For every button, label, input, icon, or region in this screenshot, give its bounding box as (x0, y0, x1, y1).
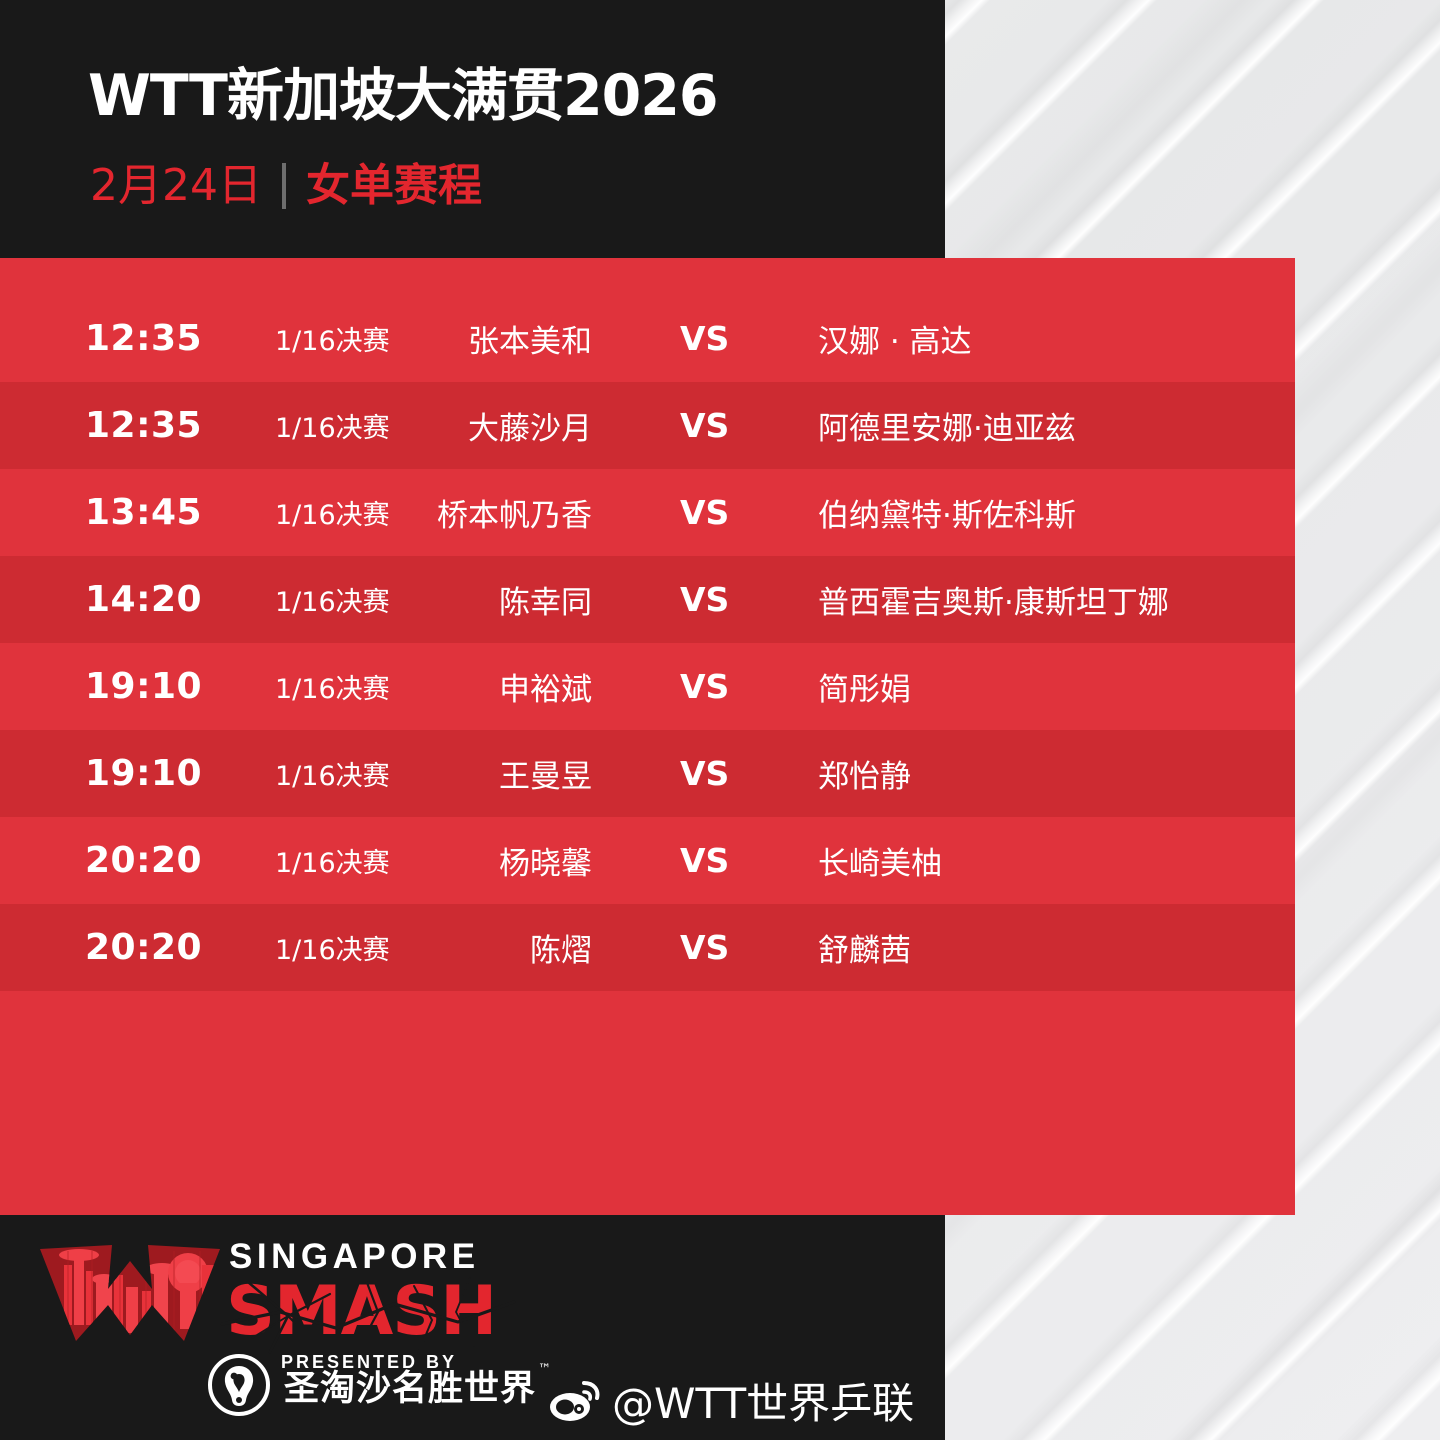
match-time: 19:10 (85, 753, 235, 794)
match-player2: 郑怡静 (818, 751, 911, 796)
match-time: 12:35 (85, 318, 235, 359)
subtitle-row: 2月24日 女单赛程 (90, 163, 482, 209)
match-player2: 阿德里安娜·迪亚兹 (818, 403, 1076, 448)
match-time: 13:45 (85, 492, 235, 533)
match-player2: 伯纳黛特·斯佐科斯 (818, 490, 1076, 535)
match-player1: 大藤沙月 (400, 403, 592, 448)
match-player2: 长崎美柚 (818, 838, 942, 883)
rws-lion-icon (208, 1354, 270, 1416)
smash-label-wrap: SMASH (226, 1278, 496, 1346)
match-vs: VS (680, 319, 750, 358)
match-vs: VS (680, 754, 750, 793)
match-vs: VS (680, 928, 750, 967)
weibo-icon (548, 1379, 600, 1423)
event-date: 2月24日 (90, 164, 262, 208)
table-row: 13:45 1/16决赛 桥本帆乃香 VS 伯纳黛特·斯佐科斯 (0, 469, 1295, 556)
match-player1: 桥本帆乃香 (400, 490, 592, 535)
match-player1: 张本美和 (400, 316, 592, 361)
match-time: 14:20 (85, 579, 235, 620)
match-time: 20:20 (85, 840, 235, 881)
match-vs: VS (680, 406, 750, 445)
table-row: 12:35 1/16决赛 大藤沙月 VS 阿德里安娜·迪亚兹 (0, 382, 1295, 469)
schedule-panel: 12:35 1/16决赛 张本美和 VS 汉娜 · 高达 12:35 1/16决… (0, 258, 1295, 1215)
subtitle-divider (282, 163, 286, 209)
match-player1: 申裕斌 (400, 664, 592, 709)
smash-label: SMASH (226, 1272, 496, 1351)
singapore-label: SINGAPORE (229, 1239, 508, 1274)
event-category: 女单赛程 (306, 164, 482, 208)
match-player2: 简彤娟 (818, 664, 911, 709)
page-title: WTT新加坡大满贯2026 (88, 68, 718, 125)
smash-wordmark-block: SINGAPORE SMASH PRESENTED BY (226, 1231, 508, 1373)
weibo-handle: @WTT世界乒联 (612, 1370, 914, 1431)
match-time: 12:35 (85, 405, 235, 446)
match-vs: VS (680, 667, 750, 706)
table-row: 20:20 1/16决赛 陈熠 VS 舒麟茜 (0, 904, 1295, 991)
match-player1: 杨晓馨 (400, 838, 592, 883)
weibo-handle-block: @WTT世界乒联 (548, 1370, 914, 1431)
match-player2: 舒麟茜 (818, 925, 911, 970)
match-player2: 汉娜 · 高达 (818, 316, 972, 361)
table-row: 19:10 1/16决赛 王曼昱 VS 郑怡静 (0, 730, 1295, 817)
table-row: 14:20 1/16决赛 陈幸同 VS 普西霍吉奥斯·康斯坦丁娜 (0, 556, 1295, 643)
table-row: 20:20 1/16决赛 杨晓馨 VS 长崎美柚 (0, 817, 1295, 904)
match-time: 20:20 (85, 927, 235, 968)
match-player1: 陈熠 (400, 925, 592, 970)
match-vs: VS (680, 841, 750, 880)
match-vs: VS (680, 493, 750, 532)
match-vs: VS (680, 580, 750, 619)
sponsor-logo: 圣淘沙名胜世界 ™ (208, 1354, 536, 1416)
singapore-smash-logo: SINGAPORE SMASH PRESENTED BY (34, 1231, 508, 1373)
match-player1: 陈幸同 (400, 577, 592, 622)
match-player2: 普西霍吉奥斯·康斯坦丁娜 (818, 577, 1169, 622)
match-time: 19:10 (85, 666, 235, 707)
match-player1: 王曼昱 (400, 751, 592, 796)
table-row: 12:35 1/16决赛 张本美和 VS 汉娜 · 高达 (0, 295, 1295, 382)
header-banner: WTT新加坡大满贯2026 2月24日 女单赛程 (0, 0, 945, 258)
w-emblem-icon (34, 1231, 230, 1351)
table-row: 19:10 1/16决赛 申裕斌 VS 简彤娟 (0, 643, 1295, 730)
sponsor-name: 圣淘沙名胜世界 ™ (284, 1360, 536, 1411)
